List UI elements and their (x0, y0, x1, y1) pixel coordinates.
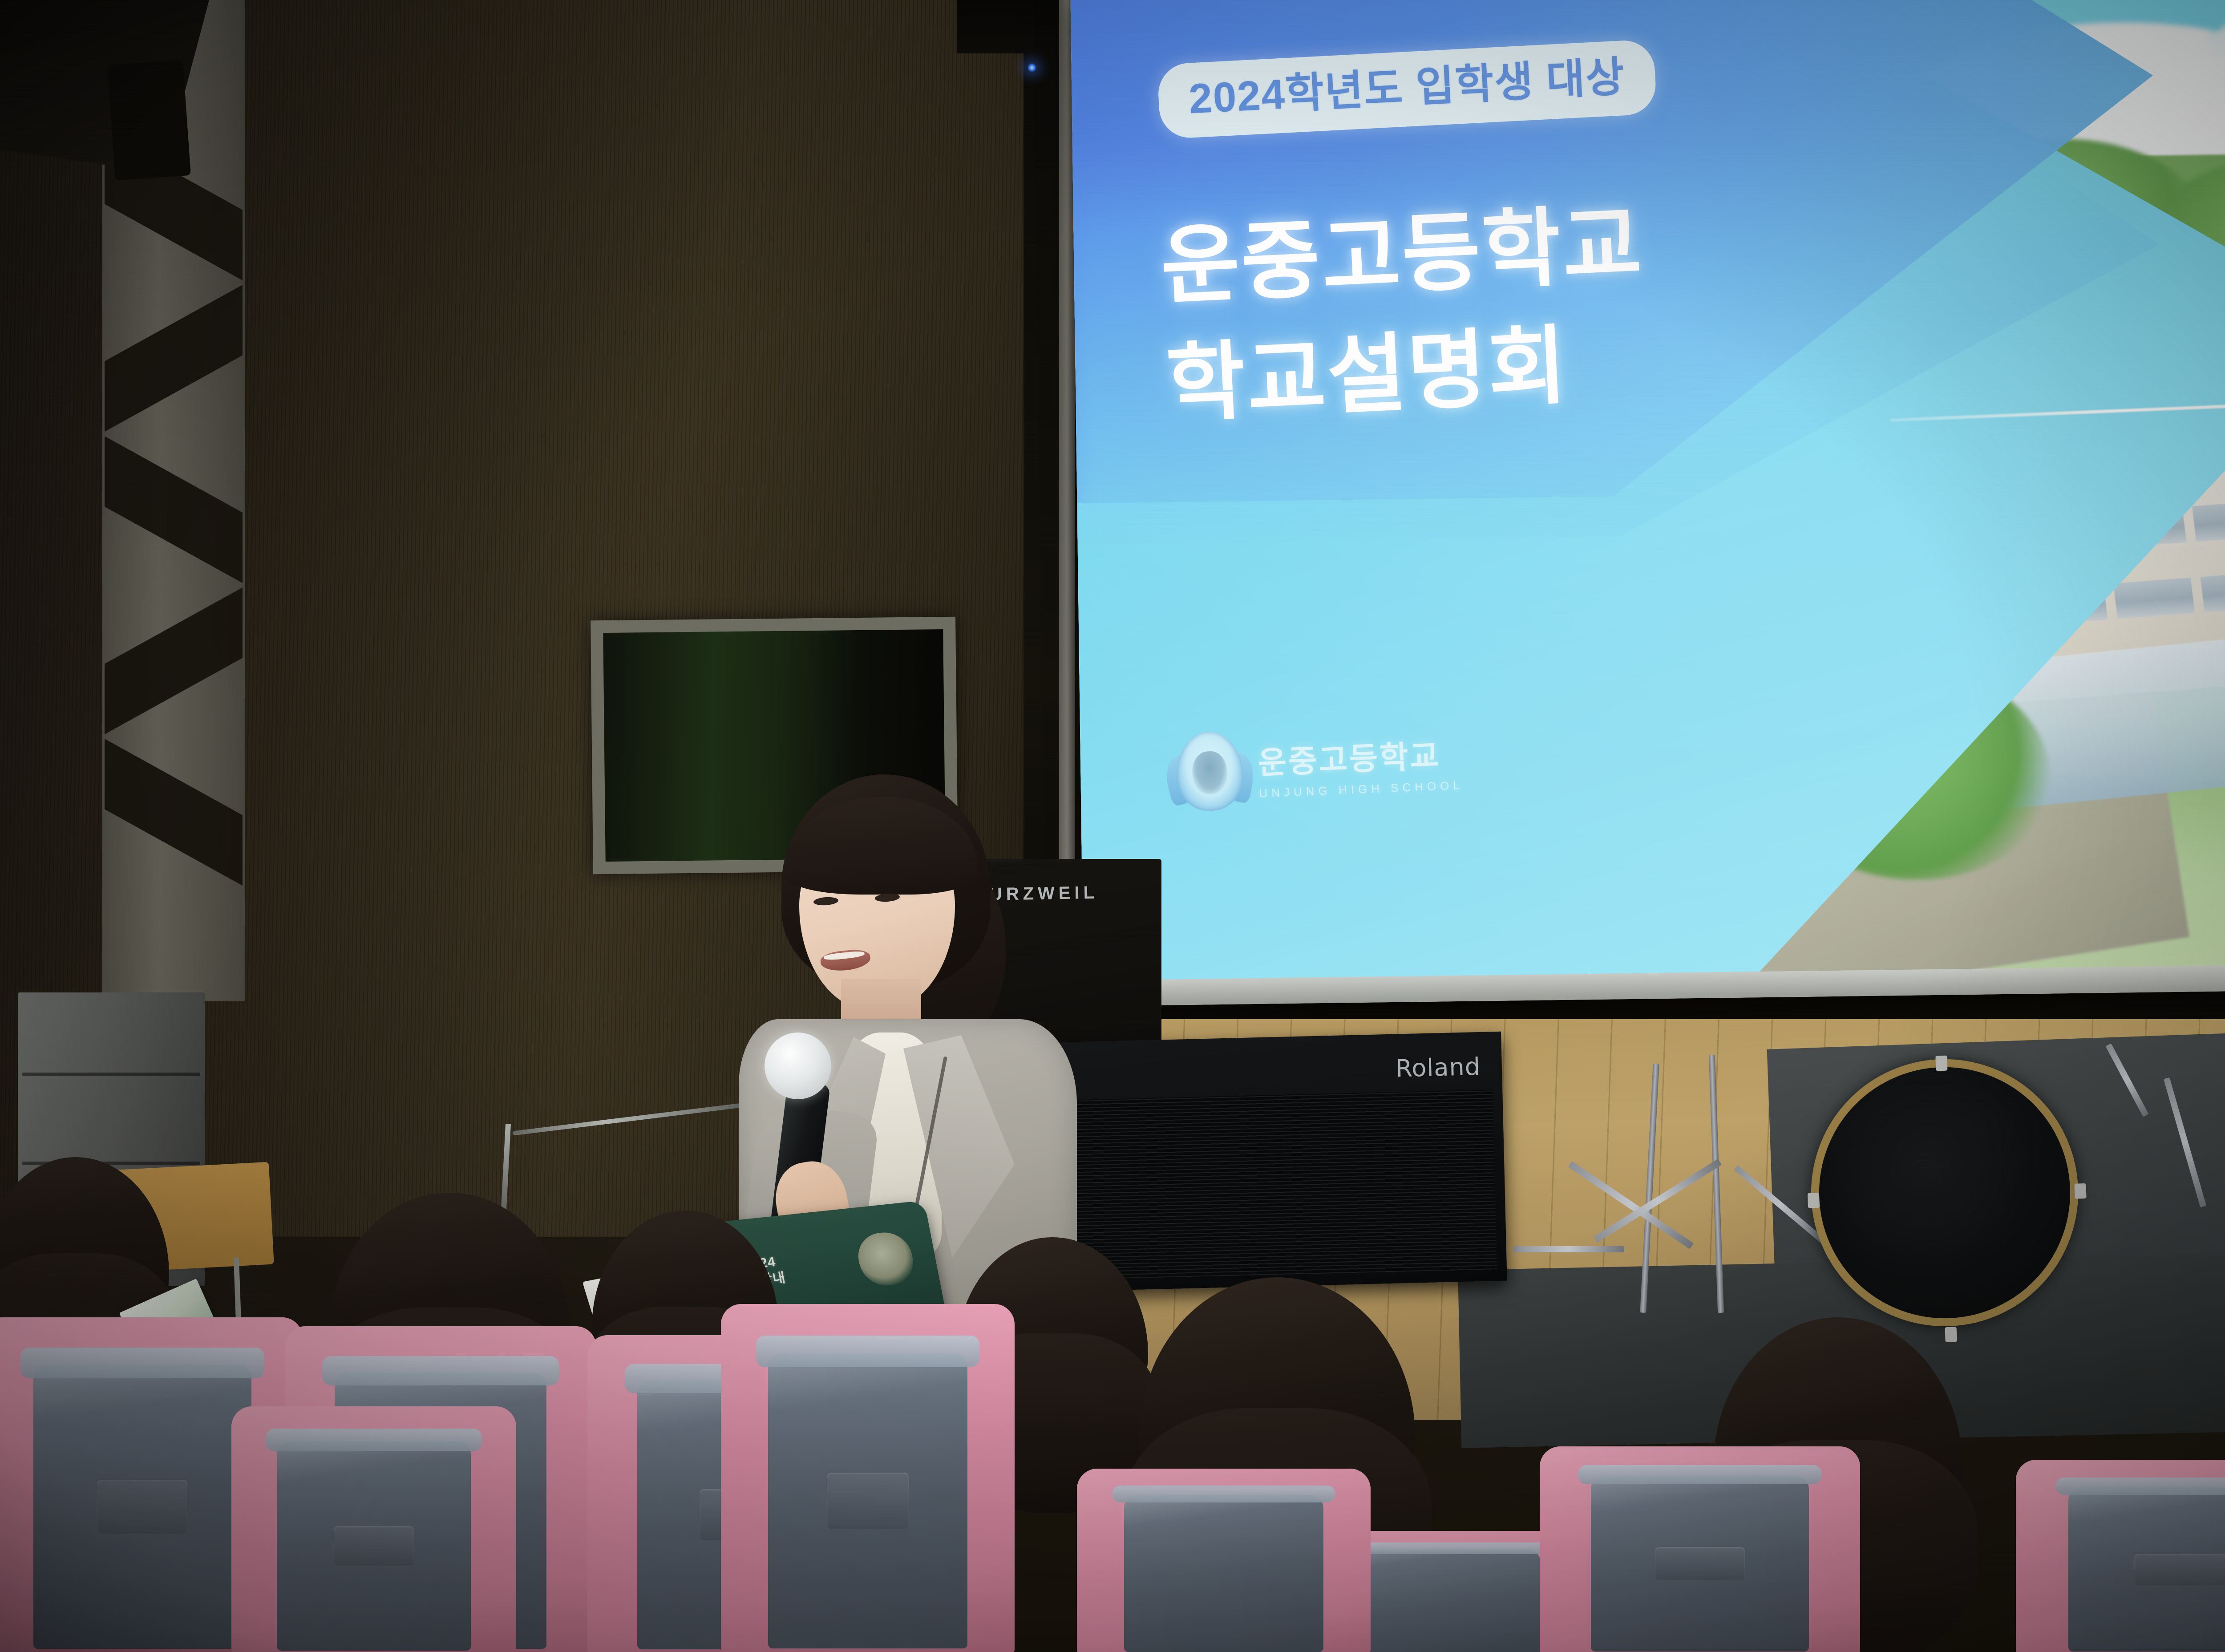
school-logo-texts: 운중고등학교 UNJUNG HIGH SCHOOL (1257, 730, 1464, 801)
auditorium-seat[interactable] (1540, 1446, 1860, 1652)
auditorium-seat[interactable] (721, 1304, 1015, 1652)
slide-title-line2: 학교설명회 (1164, 303, 1651, 444)
slide-badge-label: 2024학년도 입학생 대상 (1188, 56, 1626, 120)
auditorium-seat[interactable] (2016, 1460, 2225, 1652)
school-emblem-icon (1175, 730, 1245, 812)
school-logo: 운중고등학교 UNJUNG HIGH SCHOOL (1175, 721, 1464, 812)
microphone-icon (765, 1032, 831, 1099)
school-logo-korean: 운중고등학교 (1257, 730, 1463, 783)
amplifier-cabinet: Roland (1052, 1032, 1507, 1292)
projected-slide: 2024학년도 입학생 대상 운중고등학교 학교설명회 운중고등학교 UNJUN… (1070, 0, 2225, 980)
auditorium-scene: 2024학년도 입학생 대상 운중고등학교 학교설명회 운중고등학교 UNJUN… (0, 0, 2225, 1652)
slide-title-line1: 운중고등학교 (1158, 185, 1646, 326)
amplifier-grille (1063, 1089, 1497, 1279)
indicator-led-icon (1027, 63, 1037, 72)
auditorium-seat[interactable] (1077, 1469, 1371, 1652)
drum-hardware-arm (1513, 1246, 1624, 1252)
auditorium-seat[interactable] (231, 1406, 516, 1652)
ceiling-speaker-mount (107, 60, 191, 180)
slide-title: 운중고등학교 학교설명회 (1158, 185, 1651, 444)
amplifier-brand-label: Roland (1395, 1053, 1481, 1083)
projection-screen: 2024학년도 입학생 대상 운중고등학교 학교설명회 운중고등학교 UNJUN… (1070, 0, 2225, 1006)
